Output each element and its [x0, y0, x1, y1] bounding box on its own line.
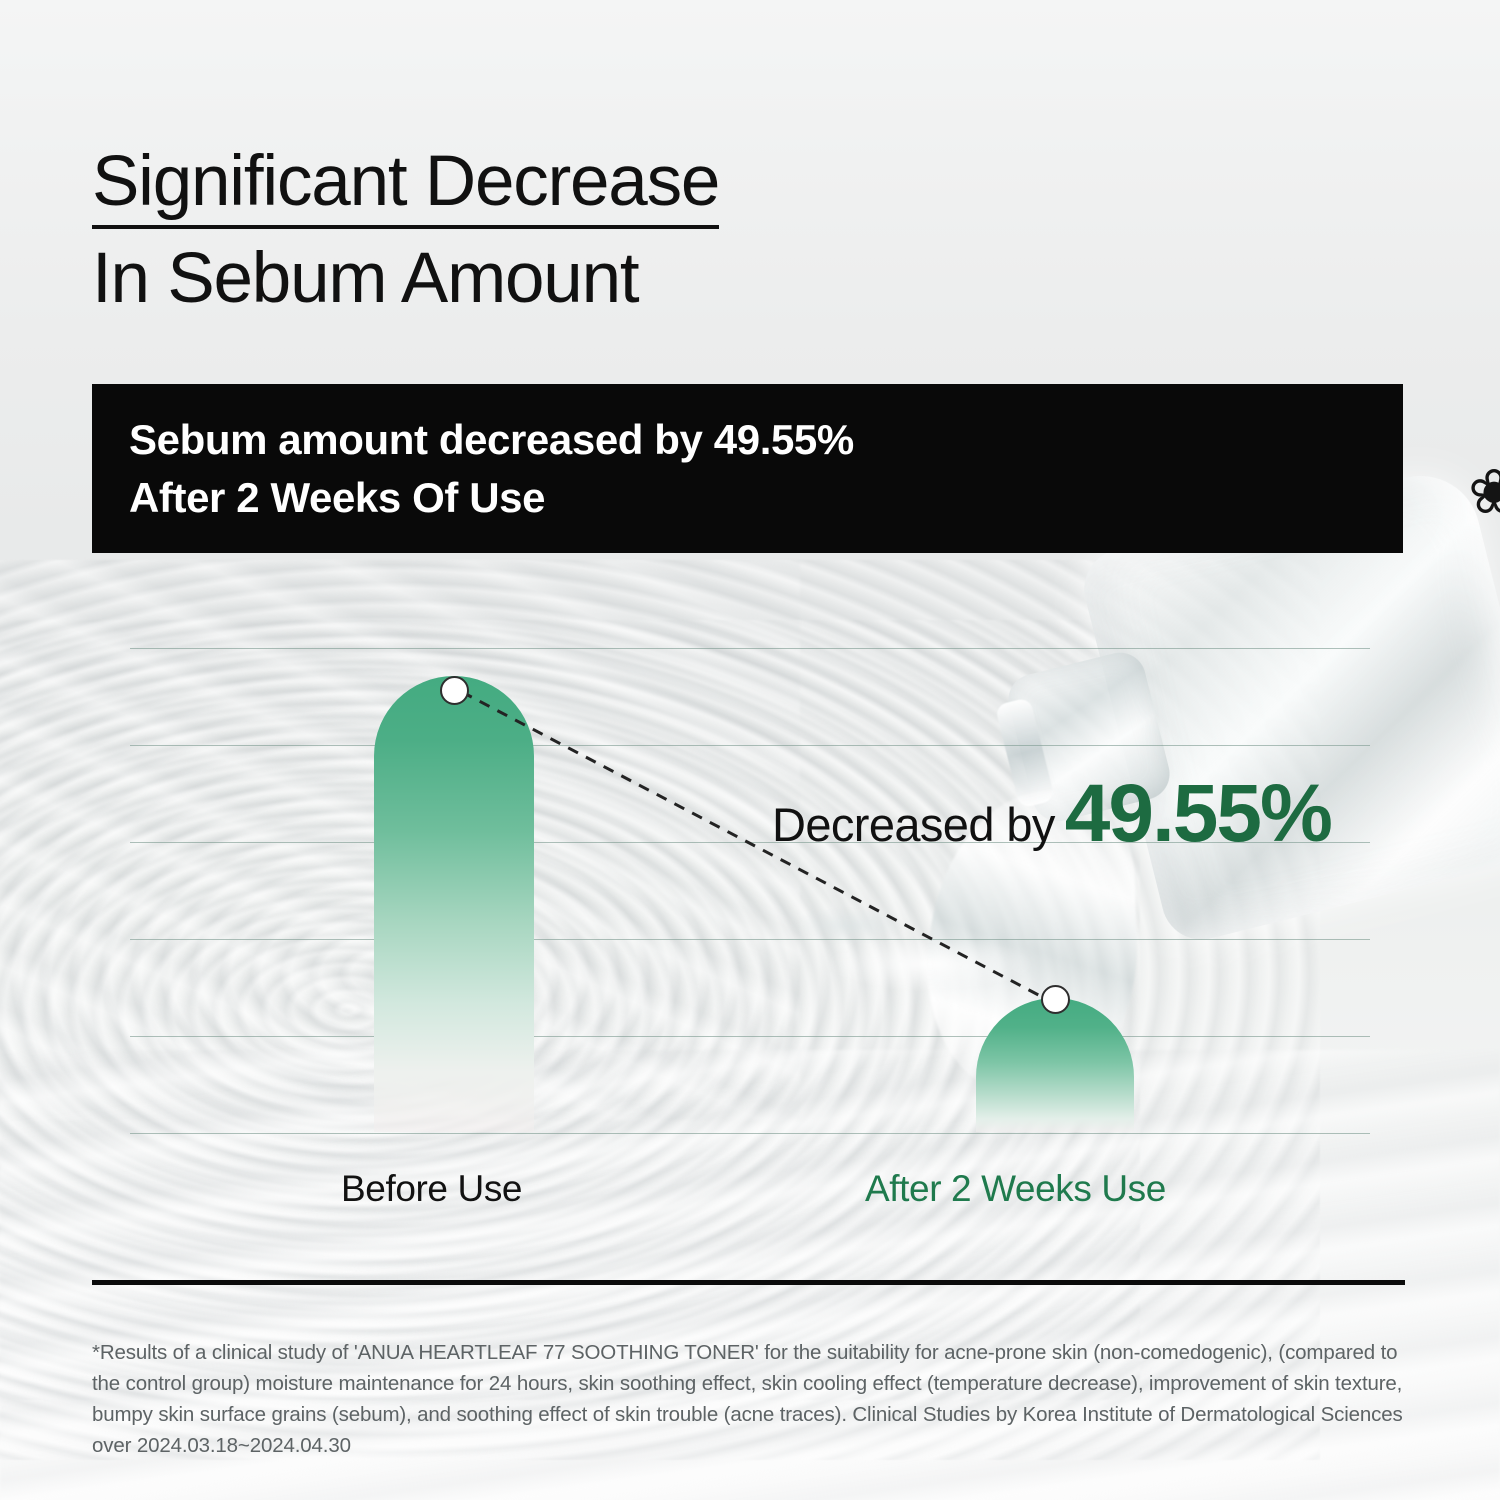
banner-line-1: Sebum amount decreased by 49.55%: [129, 414, 1403, 465]
page-title-line1: Significant Decrease: [92, 140, 719, 229]
banner-line-2: After 2 Weeks Of Use: [129, 472, 1403, 523]
page-title-line2: In Sebum Amount: [92, 237, 1092, 320]
highlight-banner: Sebum amount decreased by 49.55% After 2…: [92, 384, 1403, 553]
infographic-canvas: Significant Decrease In Sebum Amount Seb…: [0, 0, 1500, 1500]
water-splash: [760, 850, 1100, 1040]
banner-line-1-prefix: Sebum amount decreased by: [129, 416, 714, 463]
brand-watermark-icon: ❀: [1468, 462, 1500, 532]
clinical-study-footnote: *Results of a clinical study of 'ANUA HE…: [92, 1337, 1412, 1462]
page-title: Significant Decrease In Sebum Amount: [92, 140, 1092, 320]
water-sheen-upper: [0, 560, 800, 1120]
banner-line-1-value: 49.55%: [714, 416, 854, 463]
footer-divider: [92, 1280, 1405, 1285]
